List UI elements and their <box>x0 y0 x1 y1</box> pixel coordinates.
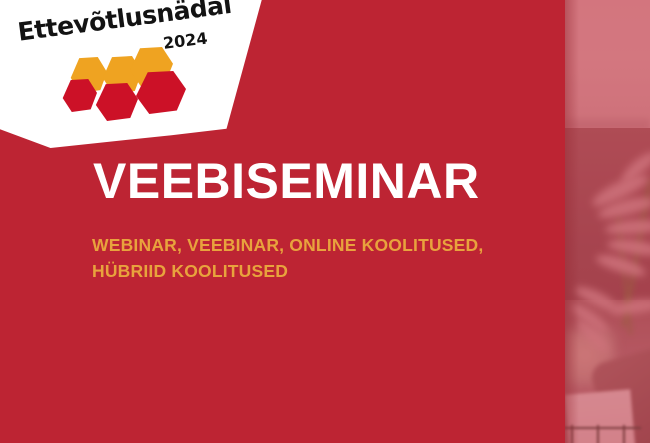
page-title: VEEBISEMINAR <box>93 152 480 210</box>
subtitle: WEBINAR, VEEBINAR, ONLINE KOOLITUSED, HÜ… <box>92 232 572 284</box>
logo: Ettevõtlusnädal 2024 <box>0 0 265 148</box>
subtitle-line-2: HÜBRIID KOOLITUSED <box>92 258 572 284</box>
logo-banner: Ettevõtlusnädal 2024 <box>0 0 265 148</box>
photo-edge-shadow <box>565 0 579 443</box>
poster-root: Ettevõtlusnädal 2024 VEEBISEMINAR WEBINA… <box>0 0 650 443</box>
blurred-interior-photo <box>565 0 650 443</box>
subtitle-line-1: WEBINAR, VEEBINAR, ONLINE KOOLITUSED, <box>92 232 572 258</box>
